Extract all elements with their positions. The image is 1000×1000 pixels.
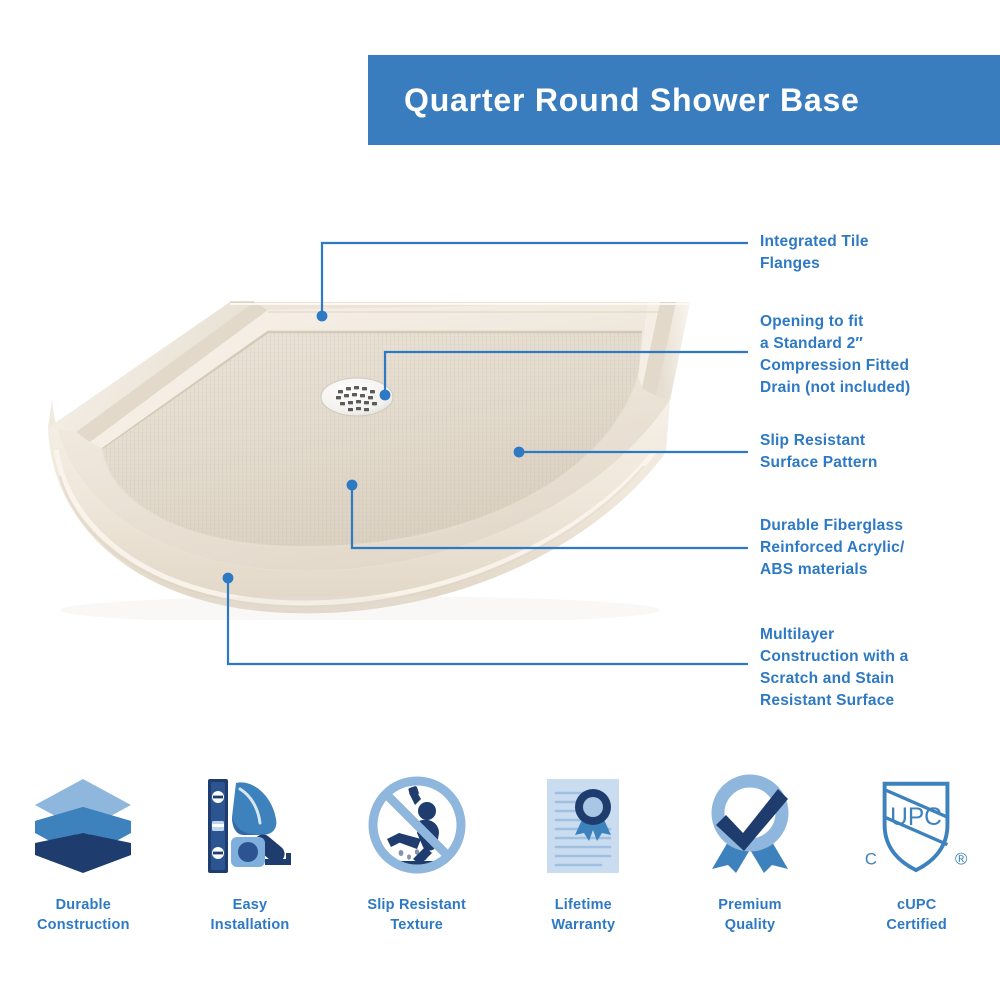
- callout-line: Slip Resistant: [760, 430, 975, 452]
- feature-lifetime-warranty: Lifetime Warranty: [500, 770, 667, 970]
- callout-line: Integrated Tile: [760, 231, 975, 253]
- callout-label-drain: Opening to fit a Standard 2″ Compression…: [760, 311, 975, 399]
- feature-label: Lifetime Warranty: [508, 896, 658, 935]
- callout-line: Resistant Surface: [760, 690, 975, 712]
- feature-label-line: Installation: [175, 916, 325, 936]
- feature-premium-quality: Premium Quality: [667, 770, 834, 970]
- feature-label: Premium Quality: [675, 896, 825, 935]
- page-title: Quarter Round Shower Base: [404, 82, 860, 119]
- feature-label-line: Premium: [675, 896, 825, 916]
- award-ribbon-check-icon: [696, 770, 804, 880]
- feature-label-line: Easy: [175, 896, 325, 916]
- upc-shield-icon: UPC C ®: [863, 770, 971, 880]
- upc-registered-mark: ®: [955, 849, 968, 868]
- callout-line: Compression Fitted: [760, 355, 975, 377]
- callout-label-multilayer: Multilayer Construction with a Scratch a…: [760, 624, 975, 712]
- feature-easy-installation: Easy Installation: [167, 770, 334, 970]
- callout-line: a Standard 2″: [760, 333, 975, 355]
- stacked-layers-icon: [29, 770, 137, 880]
- callout-line: Scratch and Stain: [760, 668, 975, 690]
- feature-slip-resistant-texture: Slip Resistant Texture: [333, 770, 500, 970]
- callout-line: Construction with a: [760, 646, 975, 668]
- callout-line: Multilayer: [760, 624, 975, 646]
- drain-cover: [321, 378, 393, 416]
- callout-label-flanges: Integrated Tile Flanges: [760, 231, 975, 275]
- feature-durable-construction: Durable Construction: [0, 770, 167, 970]
- product-image: [30, 280, 730, 620]
- feature-label-line: Warranty: [508, 916, 658, 936]
- no-slip-prohibition-icon: [363, 770, 471, 880]
- feature-label-line: Certified: [842, 916, 992, 936]
- callout-label-material: Durable Fiberglass Reinforced Acrylic/ A…: [760, 515, 975, 581]
- feature-label: Easy Installation: [175, 896, 325, 935]
- feature-label-line: Quality: [675, 916, 825, 936]
- feature-label-line: cUPC: [842, 896, 992, 916]
- title-banner: Quarter Round Shower Base: [368, 55, 1000, 145]
- feature-label-line: Construction: [8, 916, 158, 936]
- feature-label: Durable Construction: [8, 896, 158, 935]
- feature-label: Slip Resistant Texture: [342, 896, 492, 935]
- feature-label: cUPC Certified: [842, 896, 992, 935]
- feature-label-line: Slip Resistant: [342, 896, 492, 916]
- callout-line: ABS materials: [760, 559, 975, 581]
- feature-strip: Durable Construction: [0, 770, 1000, 970]
- upc-shield-text: UPC: [890, 804, 942, 831]
- upc-shield-prefix: C: [865, 849, 877, 868]
- level-trowel-tape-icon: [196, 770, 304, 880]
- feature-label-line: Lifetime: [508, 896, 658, 916]
- infographic-page: Quarter Round Shower Base: [0, 0, 1000, 1000]
- callout-line: Reinforced Acrylic/: [760, 537, 975, 559]
- callout-line: Surface Pattern: [760, 452, 975, 474]
- feature-label-line: Durable: [8, 896, 158, 916]
- callout-line: Flanges: [760, 253, 975, 275]
- callout-line: Durable Fiberglass: [760, 515, 975, 537]
- callout-label-slip: Slip Resistant Surface Pattern: [760, 430, 975, 474]
- feature-cupc-certified: UPC C ® cUPC Certified: [833, 770, 1000, 970]
- certificate-seal-icon: [529, 770, 637, 880]
- callout-line: Drain (not included): [760, 377, 975, 399]
- feature-label-line: Texture: [342, 916, 492, 936]
- callout-line: Opening to fit: [760, 311, 975, 333]
